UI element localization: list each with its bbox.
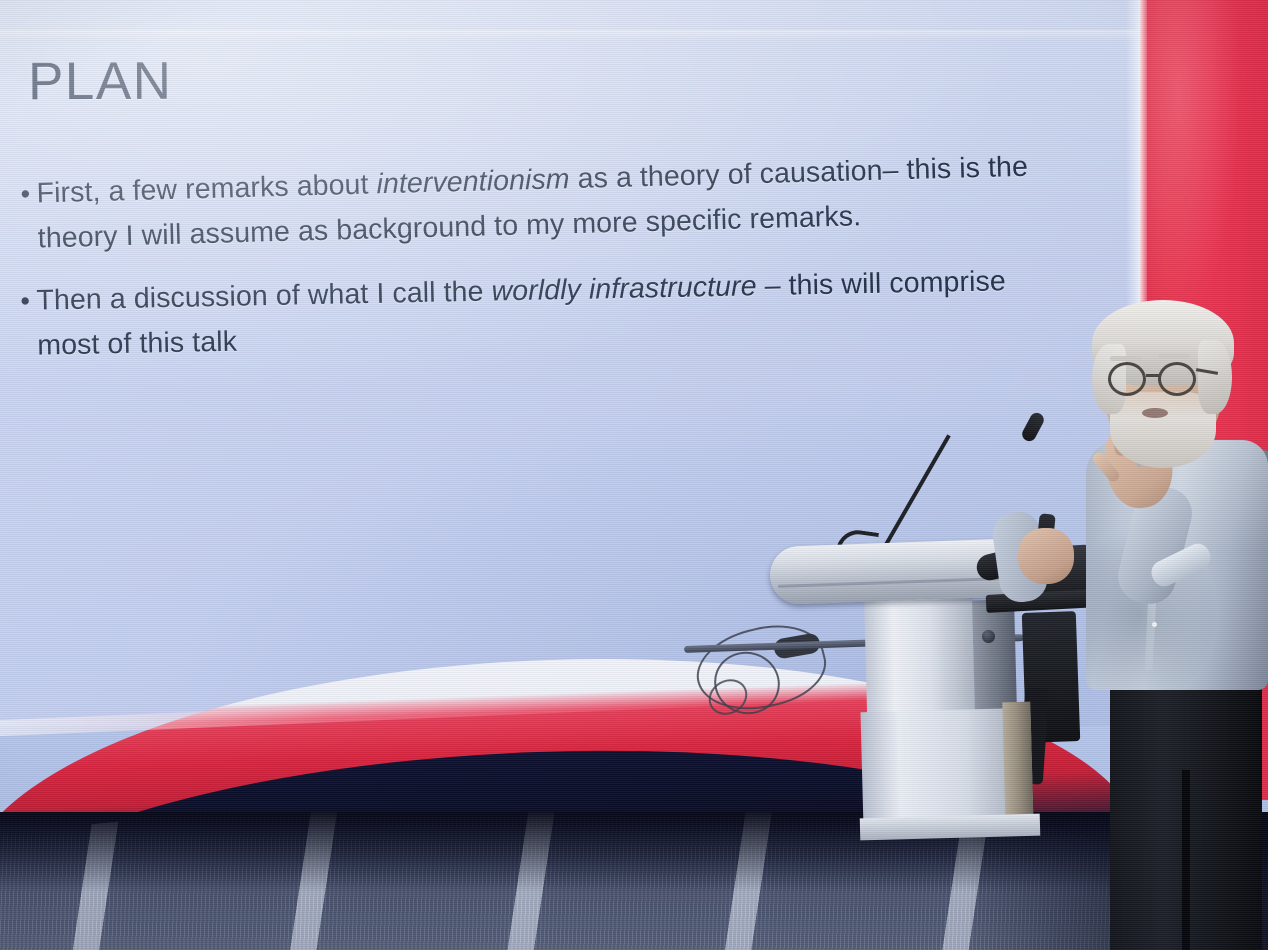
presenter-trouser-seam: [1182, 770, 1190, 950]
shirt-button: [1152, 622, 1157, 627]
eyeglasses-lens-right-icon: [1158, 362, 1196, 396]
presentation-photo: PLAN • First, a few remarks about interv…: [0, 0, 1268, 950]
slide-bullet-text: Then a discussion of what I call the wor…: [36, 258, 1052, 368]
bullet-marker-icon: •: [20, 279, 37, 324]
presenter-eyebrow-right: [1158, 354, 1190, 359]
presenter: [1000, 300, 1268, 950]
presenter-clicker-hand: [1018, 528, 1074, 584]
emphasis-worldly-infrastructure: worldly infrastructure: [491, 270, 757, 307]
bullet-marker-icon: •: [20, 172, 37, 217]
slide-bullet-list: • First, a few remarks about interventio…: [20, 172, 1050, 386]
presenter-eyebrow-left: [1110, 356, 1142, 361]
presenter-hair-side-right: [1198, 340, 1232, 414]
eyeglasses-bridge-icon: [1146, 374, 1160, 377]
slide-bullet-item: • First, a few remarks about interventio…: [20, 144, 1052, 262]
lectern-fitting: [982, 630, 995, 643]
slide-bullet-text: First, a few remarks about interventioni…: [36, 144, 1052, 261]
emphasis-interventionism: interventionism: [376, 163, 570, 200]
slide-bullet-item: • Then a discussion of what I call the w…: [20, 258, 1052, 369]
presenter-mouth: [1142, 408, 1168, 418]
slide-title: PLAN: [28, 55, 173, 109]
slide-content: PLAN • First, a few remarks about interv…: [0, 0, 1060, 470]
eyeglasses-lens-left-icon: [1108, 362, 1146, 396]
